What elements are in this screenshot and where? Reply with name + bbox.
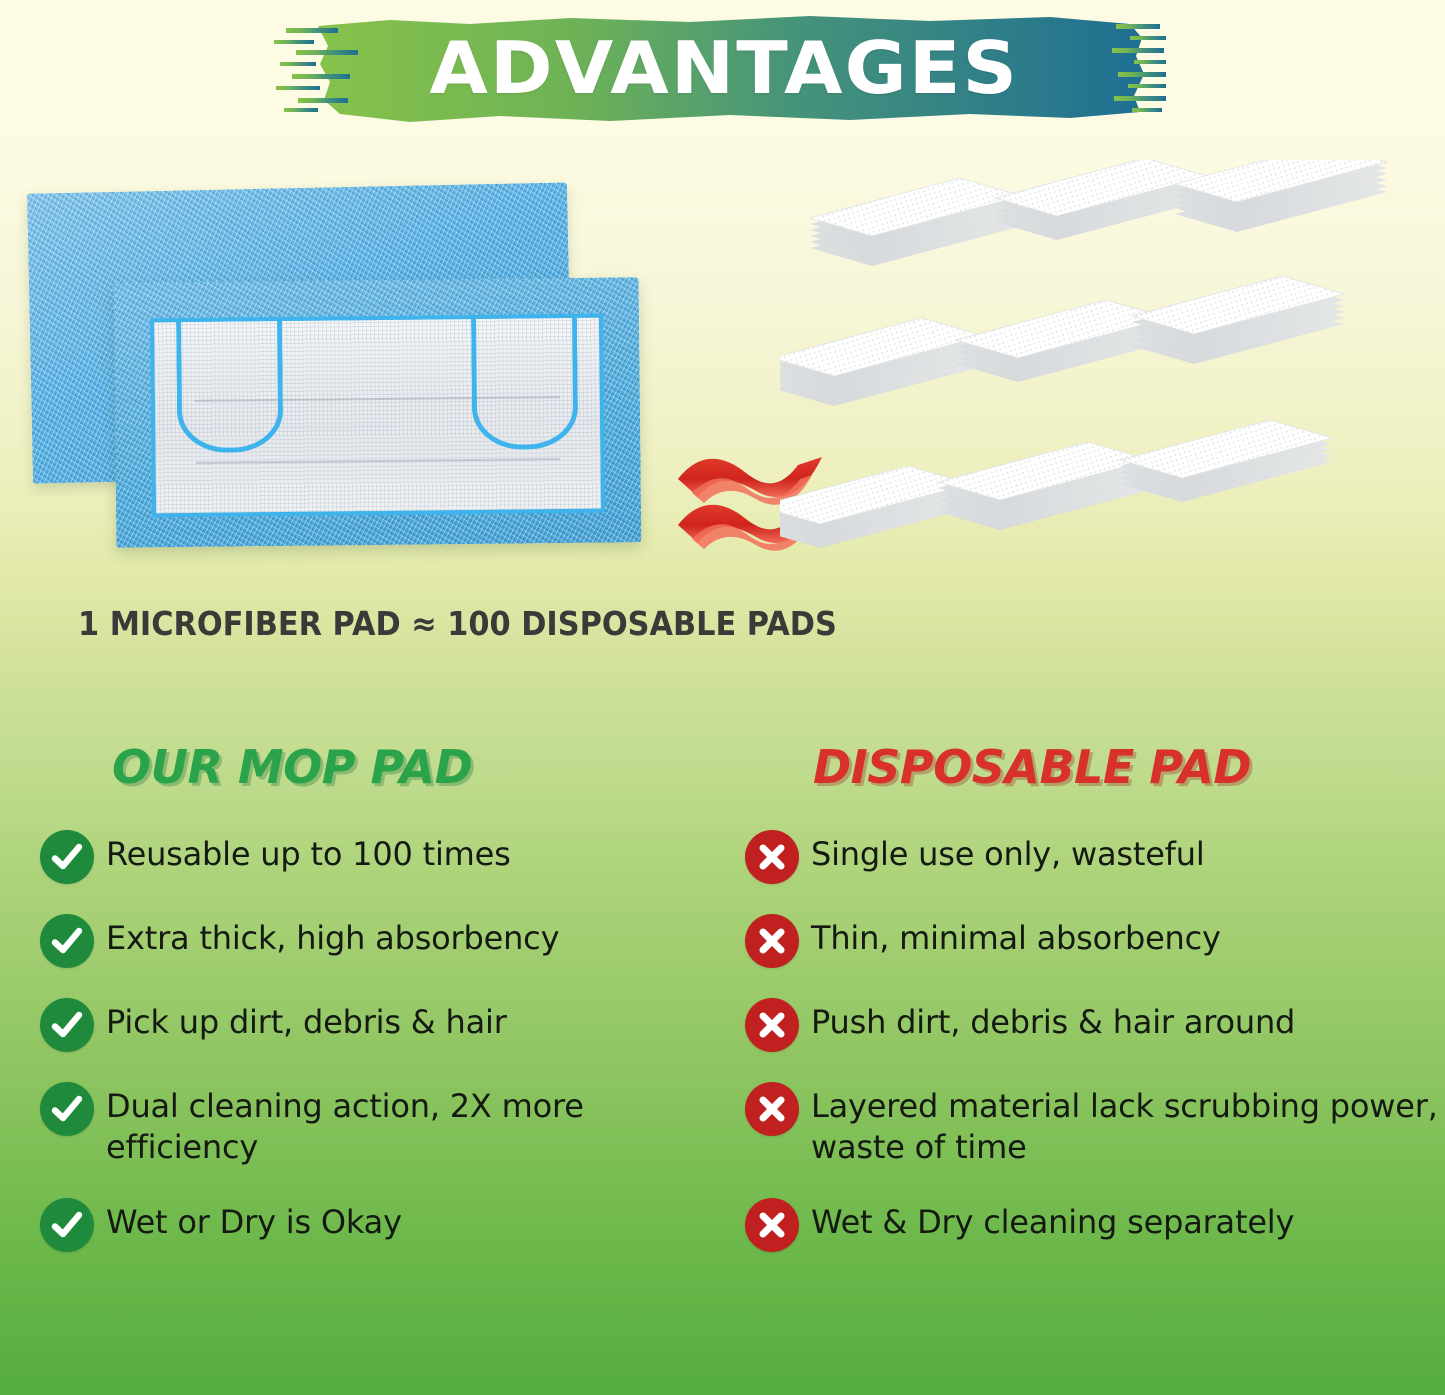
list-item: Wet & Dry cleaning separately [745,1202,1445,1252]
page-title: ADVANTAGES [248,4,1193,132]
list-item-label: Wet or Dry is Okay [106,1202,402,1243]
comparison-column-our-mop-pad: OUR MOP PAD Reusable up to 100 times Ext… [40,740,740,1286]
list-item: Single use only, wasteful [745,834,1445,884]
disposable-pad-stacks [780,160,1420,600]
microfiber-mop-pad-front [114,277,642,547]
list-item-label: Thin, minimal absorbency [811,918,1221,959]
ratio-caption: 1 MICROFIBER PAD ≈ 100 DISPOSABLE PADS [78,604,837,643]
list-item: Extra thick, high absorbency [40,918,740,968]
column-title-our-mop-pad: OUR MOP PAD [112,740,740,794]
cross-icon [745,914,799,968]
list-item-label: Layered material lack scrubbing power, w… [811,1086,1445,1168]
check-icon [40,1198,94,1252]
list-item-label: Push dirt, debris & hair around [811,1002,1295,1043]
check-icon [40,914,94,968]
list-item: Layered material lack scrubbing power, w… [745,1086,1445,1168]
list-item-label: Single use only, wasteful [811,834,1205,875]
cross-icon [745,830,799,884]
header-banner: ADVANTAGES [270,4,1170,132]
comparison-section: OUR MOP PAD Reusable up to 100 times Ext… [0,740,1445,1380]
list-item-label: Reusable up to 100 times [106,834,511,875]
list-item: Reusable up to 100 times [40,834,740,884]
cross-icon [745,1198,799,1252]
list-item-label: Extra thick, high absorbency [106,918,559,959]
check-icon [40,830,94,884]
pocket-strap-right [471,314,578,450]
advantages-infographic: ADVANTAGES [0,0,1445,1395]
cross-icon [745,1082,799,1136]
check-icon [40,998,94,1052]
list-item-label: Dual cleaning action, 2X more efficiency [106,1086,726,1168]
list-item: Thin, minimal absorbency [745,918,1445,968]
pocket-strap-left [176,317,283,453]
check-icon [40,1082,94,1136]
list-item-label: Wet & Dry cleaning separately [811,1202,1294,1243]
list-item: Wet or Dry is Okay [40,1202,740,1252]
list-item: Push dirt, debris & hair around [745,1002,1445,1052]
cross-icon [745,998,799,1052]
comparison-column-disposable-pad: DISPOSABLE PAD Single use only, wasteful… [745,740,1445,1286]
mesh-seam [196,458,561,464]
list-item: Dual cleaning action, 2X more efficiency [40,1086,740,1168]
list-item-label: Pick up dirt, debris & hair [106,1002,507,1043]
hero-image-area [0,140,1445,610]
column-title-disposable-pad: DISPOSABLE PAD [813,740,1445,794]
list-item: Pick up dirt, debris & hair [40,1002,740,1052]
